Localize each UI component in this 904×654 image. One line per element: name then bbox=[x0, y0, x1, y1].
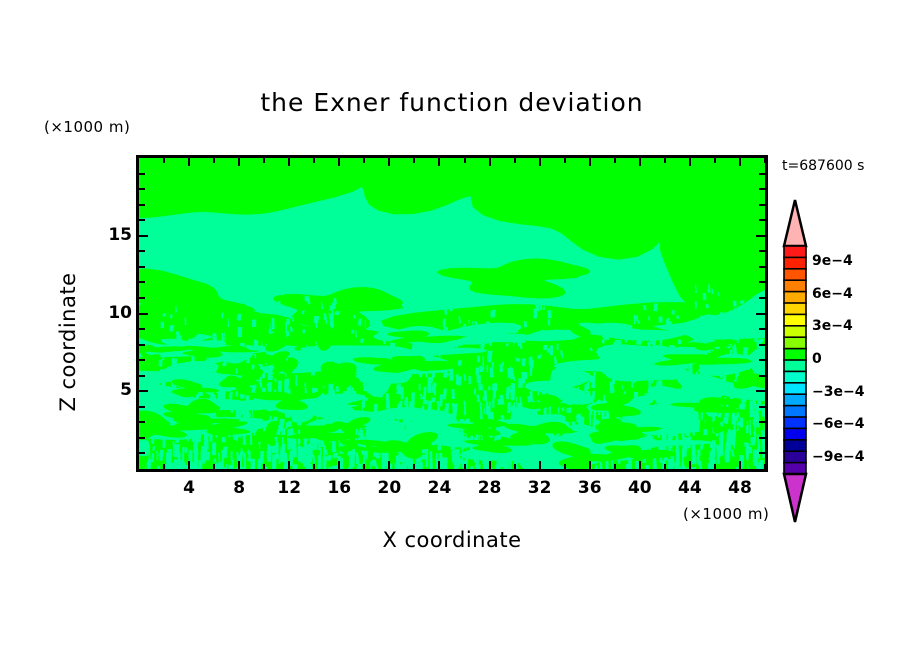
y-tick-minor bbox=[139, 297, 145, 299]
y-tick-minor-right bbox=[759, 266, 765, 268]
y-tick-minor bbox=[139, 406, 145, 408]
x-tick-major-top bbox=[388, 158, 390, 166]
x-tick-minor bbox=[614, 464, 616, 469]
y-tick-minor bbox=[139, 344, 145, 346]
x-tick-minor-top bbox=[213, 158, 215, 163]
x-tick-minor bbox=[464, 464, 466, 469]
contour-field bbox=[139, 158, 765, 469]
x-tick-minor-top bbox=[363, 158, 365, 163]
x-tick-minor bbox=[714, 464, 716, 469]
colorbar-segment bbox=[784, 257, 806, 269]
colorbar-over-arrow bbox=[784, 200, 806, 246]
x-tick-major-top bbox=[338, 158, 340, 166]
x-tick-minor-top bbox=[614, 158, 616, 163]
x-tick-minor-top bbox=[764, 158, 766, 163]
x-tick-minor-top bbox=[714, 158, 716, 163]
colorbar-segment bbox=[784, 463, 806, 475]
x-tick-major bbox=[188, 461, 190, 469]
x-tick-minor bbox=[413, 464, 415, 469]
x-tick-major-top bbox=[639, 158, 641, 166]
x-tick-label: 4 bbox=[169, 478, 209, 498]
y-tick-major-right bbox=[756, 313, 765, 315]
colorbar-tick-label: −3e−4 bbox=[812, 384, 864, 400]
y-tick-minor-right bbox=[759, 375, 765, 377]
x-tick-major bbox=[739, 461, 741, 469]
x-tick-minor-top bbox=[313, 158, 315, 163]
x-tick-major bbox=[438, 461, 440, 469]
y-axis-title: Z coordinate bbox=[56, 232, 80, 452]
x-tick-minor-top bbox=[564, 158, 566, 163]
y-axis-unit-label: (×1000 m) bbox=[44, 118, 130, 136]
colorbar-tick-label: 3e−4 bbox=[812, 318, 853, 334]
x-tick-label: 44 bbox=[670, 478, 710, 498]
x-tick-label: 32 bbox=[520, 478, 560, 498]
colorbar-segment bbox=[784, 303, 806, 315]
y-tick-minor bbox=[139, 437, 145, 439]
x-tick-minor bbox=[514, 464, 516, 469]
colorbar-segment bbox=[784, 360, 806, 372]
colorbar-segment bbox=[784, 337, 806, 349]
y-tick-minor bbox=[139, 452, 145, 454]
colorbar-tick-label: 0 bbox=[812, 351, 822, 367]
y-tick-minor-right bbox=[759, 421, 765, 423]
x-tick-label: 40 bbox=[620, 478, 660, 498]
x-tick-label: 12 bbox=[269, 478, 309, 498]
x-axis-unit-label: (×1000 m) bbox=[683, 505, 769, 523]
y-tick-minor-right bbox=[759, 173, 765, 175]
x-tick-major-top bbox=[438, 158, 440, 166]
x-tick-major bbox=[388, 461, 390, 469]
colorbar-segment bbox=[784, 246, 806, 258]
x-tick-label: 16 bbox=[319, 478, 359, 498]
x-tick-major bbox=[539, 461, 541, 469]
x-tick-minor bbox=[764, 464, 766, 469]
x-axis-title: X coordinate bbox=[136, 528, 768, 552]
colorbar-segment bbox=[784, 292, 806, 304]
x-tick-minor bbox=[263, 464, 265, 469]
x-tick-minor-top bbox=[413, 158, 415, 163]
colorbar-tick-label: 6e−4 bbox=[812, 286, 853, 302]
colorbar-segment bbox=[784, 280, 806, 292]
colorbar-tick-label: 9e−4 bbox=[812, 253, 853, 269]
colorbar-segment bbox=[784, 371, 806, 383]
colorbar-segment bbox=[784, 326, 806, 338]
colorbar-tick-label: −6e−4 bbox=[812, 416, 864, 432]
y-tick-label: 5 bbox=[98, 380, 132, 400]
x-tick-major-top bbox=[489, 158, 491, 166]
colorbar-under-arrow bbox=[784, 474, 806, 522]
colorbar-segment bbox=[784, 406, 806, 418]
x-tick-label: 20 bbox=[369, 478, 409, 498]
y-tick-minor-right bbox=[759, 297, 765, 299]
y-tick-minor bbox=[139, 219, 145, 221]
x-tick-minor bbox=[313, 464, 315, 469]
x-tick-major-top bbox=[739, 158, 741, 166]
y-tick-minor-right bbox=[759, 328, 765, 330]
x-tick-minor bbox=[213, 464, 215, 469]
x-tick-minor bbox=[564, 464, 566, 469]
y-tick-minor bbox=[139, 375, 145, 377]
y-tick-minor bbox=[139, 359, 145, 361]
x-tick-major bbox=[489, 461, 491, 469]
y-tick-major bbox=[139, 235, 148, 237]
colorbar-segment bbox=[784, 451, 806, 463]
colorbar-segment bbox=[784, 428, 806, 440]
colorbar-segment bbox=[784, 349, 806, 361]
colorbar-segment bbox=[784, 394, 806, 406]
x-tick-major-top bbox=[288, 158, 290, 166]
x-tick-label: 8 bbox=[219, 478, 259, 498]
y-tick-minor-right bbox=[759, 281, 765, 283]
contour-plot-area[interactable] bbox=[136, 155, 768, 472]
x-tick-minor bbox=[363, 464, 365, 469]
x-tick-label: 36 bbox=[570, 478, 610, 498]
x-tick-label: 28 bbox=[470, 478, 510, 498]
x-tick-minor bbox=[163, 464, 165, 469]
colorbar-segment bbox=[784, 314, 806, 326]
y-tick-minor bbox=[139, 250, 145, 252]
y-tick-label: 15 bbox=[98, 225, 132, 245]
y-tick-minor-right bbox=[759, 406, 765, 408]
x-tick-major-top bbox=[238, 158, 240, 166]
y-tick-minor-right bbox=[759, 452, 765, 454]
x-tick-major-top bbox=[539, 158, 541, 166]
x-tick-minor-top bbox=[163, 158, 165, 163]
y-tick-minor-right bbox=[759, 437, 765, 439]
x-tick-minor-top bbox=[664, 158, 666, 163]
y-tick-major bbox=[139, 390, 148, 392]
x-tick-label: 48 bbox=[720, 478, 760, 498]
y-tick-minor bbox=[139, 204, 145, 206]
chart-title: the Exner function deviation bbox=[0, 88, 904, 117]
x-tick-minor-top bbox=[263, 158, 265, 163]
x-tick-major bbox=[589, 461, 591, 469]
x-tick-major bbox=[639, 461, 641, 469]
y-tick-minor bbox=[139, 266, 145, 268]
x-tick-major bbox=[689, 461, 691, 469]
y-tick-minor bbox=[139, 421, 145, 423]
colorbar-tick-label: −9e−4 bbox=[812, 449, 864, 465]
x-tick-major-top bbox=[689, 158, 691, 166]
x-tick-minor bbox=[664, 464, 666, 469]
colorbar-segment bbox=[784, 269, 806, 281]
y-tick-major-right bbox=[756, 235, 765, 237]
x-tick-major bbox=[238, 461, 240, 469]
y-tick-minor-right bbox=[759, 250, 765, 252]
x-tick-label: 24 bbox=[419, 478, 459, 498]
y-tick-minor bbox=[139, 328, 145, 330]
colorbar-segment bbox=[784, 440, 806, 452]
y-tick-major bbox=[139, 313, 148, 315]
y-tick-minor-right bbox=[759, 219, 765, 221]
x-tick-minor-top bbox=[514, 158, 516, 163]
x-tick-major bbox=[338, 461, 340, 469]
y-tick-minor-right bbox=[759, 204, 765, 206]
x-tick-minor-top bbox=[464, 158, 466, 163]
y-tick-minor bbox=[139, 188, 145, 190]
y-tick-minor-right bbox=[759, 344, 765, 346]
y-tick-label: 10 bbox=[98, 303, 132, 323]
y-tick-minor-right bbox=[759, 188, 765, 190]
y-tick-minor bbox=[139, 173, 145, 175]
y-tick-major-right bbox=[756, 390, 765, 392]
time-annotation: t=687600 s bbox=[782, 158, 864, 174]
y-tick-minor-right bbox=[759, 359, 765, 361]
x-tick-major-top bbox=[188, 158, 190, 166]
y-tick-minor bbox=[139, 281, 145, 283]
colorbar-segment bbox=[784, 383, 806, 395]
x-tick-major-top bbox=[589, 158, 591, 166]
x-tick-major bbox=[288, 461, 290, 469]
colorbar-segment bbox=[784, 417, 806, 429]
